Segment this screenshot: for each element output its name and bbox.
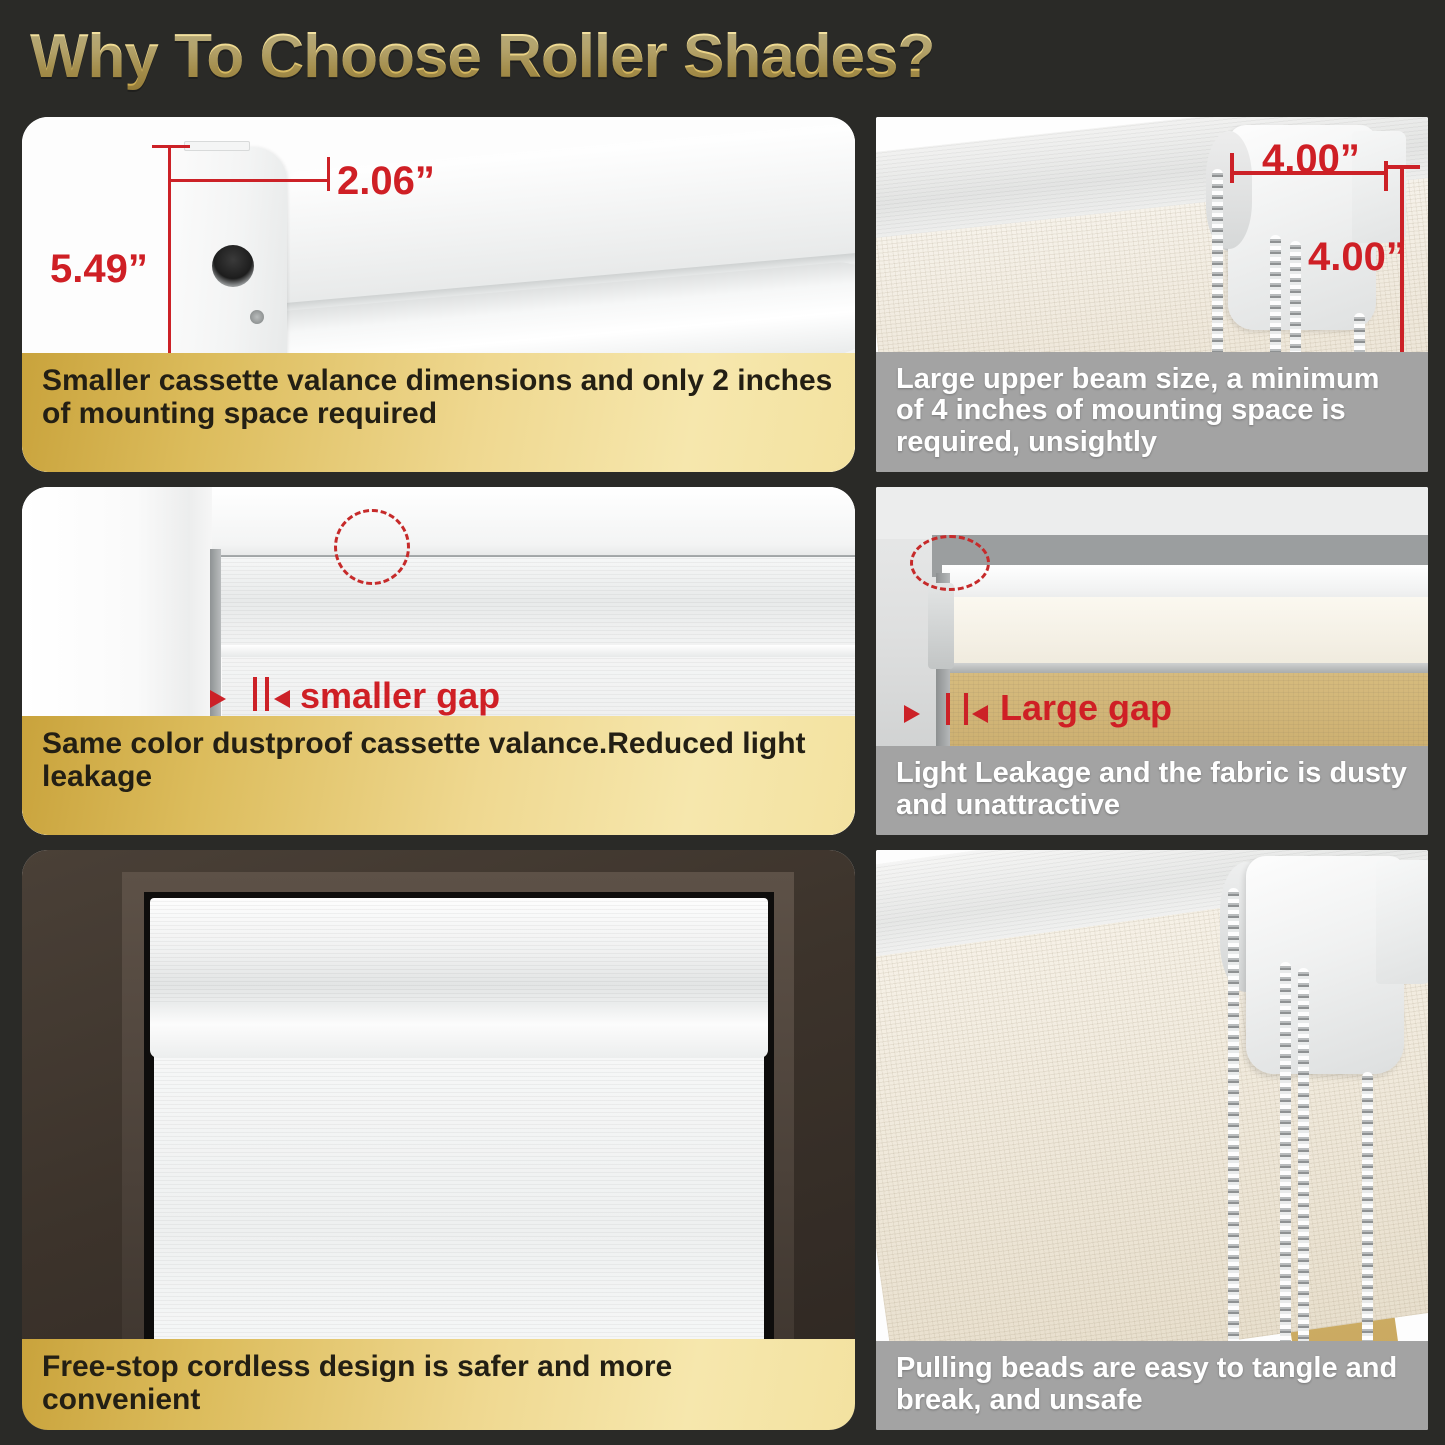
header-bar: Why To Choose Roller Shades? <box>0 0 1445 112</box>
large-gap-label: Large gap <box>1000 687 1172 729</box>
gap-highlight-circle <box>910 535 990 591</box>
width-dimension-tick-right <box>327 157 330 191</box>
caption-pro-dustproof-valance: Same color dustproof cassette valance.Re… <box>22 716 855 835</box>
bead-chain[interactable] <box>1298 968 1309 1364</box>
panel-con-pulling-beads[interactable]: Pulling beads are easy to tangle and bre… <box>876 850 1428 1430</box>
panel-con-large-upper-beam[interactable]: 4.00” 4.00” Large upper beam size, a min… <box>876 117 1428 472</box>
gap-marker-a <box>253 677 257 711</box>
panel-con-light-leakage[interactable]: Large gap Light Leakage and the fabric i… <box>876 487 1428 835</box>
panel-pro-cassette-dimensions[interactable]: 5.49” 2.06” Smaller cassette valance dim… <box>22 117 855 472</box>
gap-arrow-left <box>210 690 226 708</box>
bead-chain[interactable] <box>1228 888 1239 1358</box>
width-dimension-line <box>170 179 330 182</box>
caption-con-light-leakage: Light Leakage and the fabric is dusty an… <box>876 746 1428 835</box>
comparison-grid: 5.49” 2.06” Smaller cassette valance dim… <box>0 112 1445 1445</box>
height-dimension-label: 5.49” <box>50 247 148 292</box>
panel-pro-dustproof-valance[interactable]: smaller gap Same color dustproof cassett… <box>22 487 855 835</box>
beam-height-label: 4.00” <box>1308 235 1406 280</box>
caption-con-pulling-beads: Pulling beads are easy to tangle and bre… <box>876 1341 1428 1430</box>
page-title: Why To Choose Roller Shades? <box>30 21 934 92</box>
width-dimension-label: 2.06” <box>337 159 435 204</box>
smaller-gap-label: smaller gap <box>300 675 500 717</box>
gap-marker-b <box>964 693 968 725</box>
beam-width-label: 4.00” <box>1262 137 1360 182</box>
gap-highlight-circle <box>334 509 410 585</box>
height-dimension-tick-top <box>152 145 190 148</box>
beam-width-tick-left <box>1230 153 1234 183</box>
gap-marker-b <box>265 677 269 711</box>
caption-pro-cassette-dimensions: Smaller cassette valance dimensions and … <box>22 353 855 472</box>
bead-chain[interactable] <box>1280 962 1291 1362</box>
panel-pro-cordless-design[interactable]: Free-stop cordless design is safer and m… <box>22 850 855 1430</box>
bead-chain[interactable] <box>1362 1072 1373 1366</box>
gap-arrow-right <box>274 690 290 708</box>
beam-height-tick-top <box>1384 165 1420 169</box>
gap-arrow-right <box>972 705 988 723</box>
caption-pro-cordless-design: Free-stop cordless design is safer and m… <box>22 1339 855 1430</box>
caption-con-large-upper-beam: Large upper beam size, a minimum of 4 in… <box>876 352 1428 472</box>
gap-arrow-left <box>904 705 920 723</box>
gap-marker-a <box>946 693 950 725</box>
